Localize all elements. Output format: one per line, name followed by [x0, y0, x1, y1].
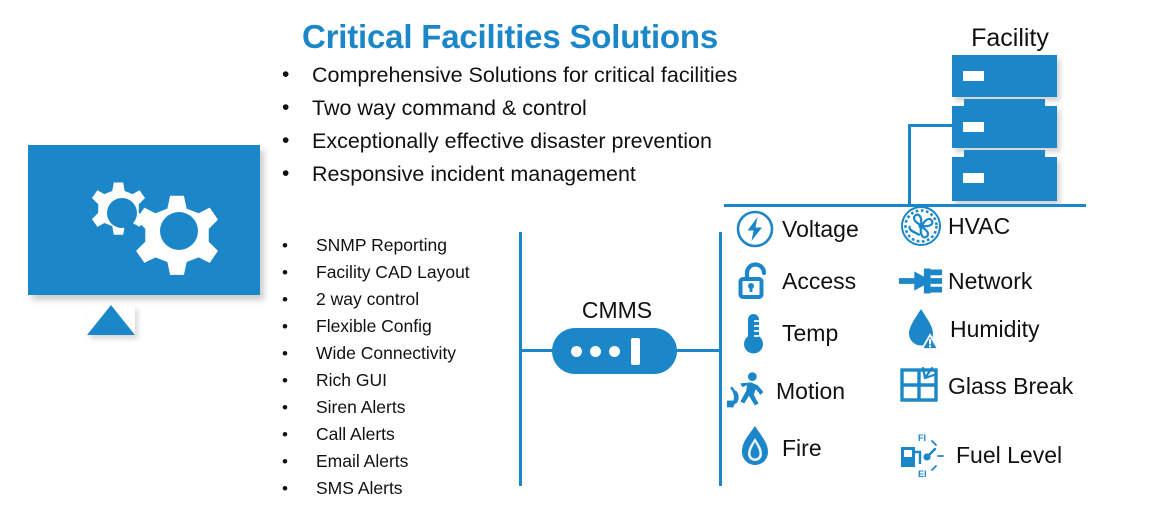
fuel-full-mark: FI: [918, 433, 926, 443]
cmms-left-connector: [519, 349, 555, 352]
sensor-network[interactable]: Network: [898, 258, 1032, 304]
feature-text: Facility CAD Layout: [316, 259, 470, 286]
sensor-fuel-level[interactable]: FI EI Fuel Level: [896, 425, 1062, 485]
monitor-screen: [28, 145, 260, 295]
bullet-icon: •: [282, 286, 316, 313]
facility-label: Facility: [930, 24, 1090, 53]
feature-text: Call Alerts: [316, 421, 395, 448]
fuel-gauge-icon: FI EI: [896, 425, 956, 485]
facility-elbow-line: [908, 124, 956, 127]
sensor-glass-break[interactable]: Glass Break: [898, 363, 1073, 409]
facility-drop-line: [908, 124, 911, 206]
monitor-stand: [87, 305, 135, 335]
rack-unit: [952, 106, 1057, 148]
list-item: • Siren Alerts: [282, 394, 522, 421]
rack-unit: [952, 55, 1057, 97]
bullet-icon: •: [282, 232, 316, 259]
list-item: • Facility CAD Layout: [282, 259, 522, 286]
feature-text: SMS Alerts: [316, 475, 403, 502]
cmms-label: CMMS: [537, 297, 697, 324]
cmms-right-connector: [675, 349, 721, 352]
rack-led: [963, 71, 984, 81]
feature-bullet-list: • SNMP Reporting • Facility CAD Layout •…: [282, 232, 522, 502]
list-item: • Two way command & control: [282, 93, 922, 123]
sensor-fire[interactable]: Fire: [732, 425, 822, 471]
bullet-icon: •: [282, 126, 312, 156]
bullet-icon: •: [282, 448, 316, 475]
feature-text: SNMP Reporting: [316, 232, 447, 259]
broken-window-icon: [898, 363, 944, 409]
bullet-icon: •: [282, 313, 316, 340]
infographic-canvas: Critical Facilities Solutions • Comprehe…: [0, 0, 1166, 517]
sensor-temp[interactable]: Temp: [732, 310, 838, 356]
bullet-icon: •: [282, 394, 316, 421]
fan-circle-icon: [898, 203, 944, 249]
cmms-indicator-dot: [609, 346, 620, 357]
list-item: • Responsive incident management: [282, 159, 922, 189]
motion-walking-icon: [726, 368, 772, 414]
sensor-label: Fuel Level: [956, 442, 1062, 469]
rack-led: [963, 122, 984, 132]
sensor-voltage[interactable]: Voltage: [732, 206, 859, 252]
gears-icon: [28, 145, 260, 295]
list-item: • Wide Connectivity: [282, 340, 522, 367]
bullet-icon: •: [282, 60, 312, 90]
page-title-text: Critical Facilities Solutions: [302, 18, 718, 56]
sensor-label: Temp: [782, 320, 838, 347]
bullet-icon: •: [282, 159, 312, 189]
feature-text: Email Alerts: [316, 448, 408, 475]
water-droplet-warning-icon: [900, 306, 946, 352]
sensor-label: HVAC: [948, 213, 1010, 240]
sensor-motion[interactable]: Motion: [726, 368, 845, 414]
bullet-icon: •: [282, 421, 316, 448]
list-item: • Rich GUI: [282, 367, 522, 394]
bullet-icon: •: [282, 475, 316, 502]
bullet-icon: •: [282, 367, 316, 394]
top-bullet-list: • Comprehensive Solutions for critical f…: [282, 60, 922, 192]
flame-icon: [732, 425, 778, 471]
feature-text: Flexible Config: [316, 313, 432, 340]
right-rail-line: [719, 232, 722, 486]
sensor-hvac[interactable]: HVAC: [898, 203, 1010, 249]
bullet-text: Comprehensive Solutions for critical fac…: [312, 60, 737, 90]
bullet-text: Two way command & control: [312, 93, 587, 123]
rack-led: [963, 173, 984, 183]
list-item: • Exceptionally effective disaster preve…: [282, 126, 922, 156]
ethernet-plug-icon: [898, 258, 944, 304]
feature-text: 2 way control: [316, 286, 419, 313]
bullet-text: Responsive incident management: [312, 159, 636, 189]
sensor-label: Network: [948, 268, 1032, 295]
cmms-node-icon[interactable]: [552, 328, 677, 374]
cmms-bar: [631, 338, 640, 365]
rack-unit: [952, 157, 1057, 201]
sensor-label: Voltage: [782, 216, 859, 243]
bullet-icon: •: [282, 340, 316, 367]
list-item: • Call Alerts: [282, 421, 522, 448]
list-item: • SNMP Reporting: [282, 232, 522, 259]
list-item: • Email Alerts: [282, 448, 522, 475]
list-item: • 2 way control: [282, 286, 522, 313]
sensor-label: Motion: [776, 378, 845, 405]
server-rack-icon: [952, 55, 1057, 203]
list-item: • Comprehensive Solutions for critical f…: [282, 60, 922, 90]
feature-text: Wide Connectivity: [316, 340, 456, 367]
thermometer-icon: [732, 310, 778, 356]
list-item: • SMS Alerts: [282, 475, 522, 502]
bullet-icon: •: [282, 93, 312, 123]
open-padlock-icon: [732, 258, 778, 304]
bullet-text: Exceptionally effective disaster prevent…: [312, 126, 712, 156]
list-item: • Flexible Config: [282, 313, 522, 340]
fuel-empty-mark: EI: [918, 469, 927, 479]
cmms-indicator-dot: [571, 346, 582, 357]
sensor-access[interactable]: Access: [732, 258, 856, 304]
cmms-indicator-dot: [590, 346, 601, 357]
left-rail-line: [519, 232, 522, 486]
sensor-label: Fire: [782, 435, 822, 462]
bullet-icon: •: [282, 259, 316, 286]
feature-text: Rich GUI: [316, 367, 387, 394]
voltage-bolt-icon: [732, 206, 778, 252]
sensor-label: Access: [782, 268, 856, 295]
sensor-humidity[interactable]: Humidity: [900, 306, 1039, 352]
feature-text: Siren Alerts: [316, 394, 405, 421]
sensor-label: Humidity: [950, 316, 1039, 343]
sensor-label: Glass Break: [948, 373, 1073, 400]
